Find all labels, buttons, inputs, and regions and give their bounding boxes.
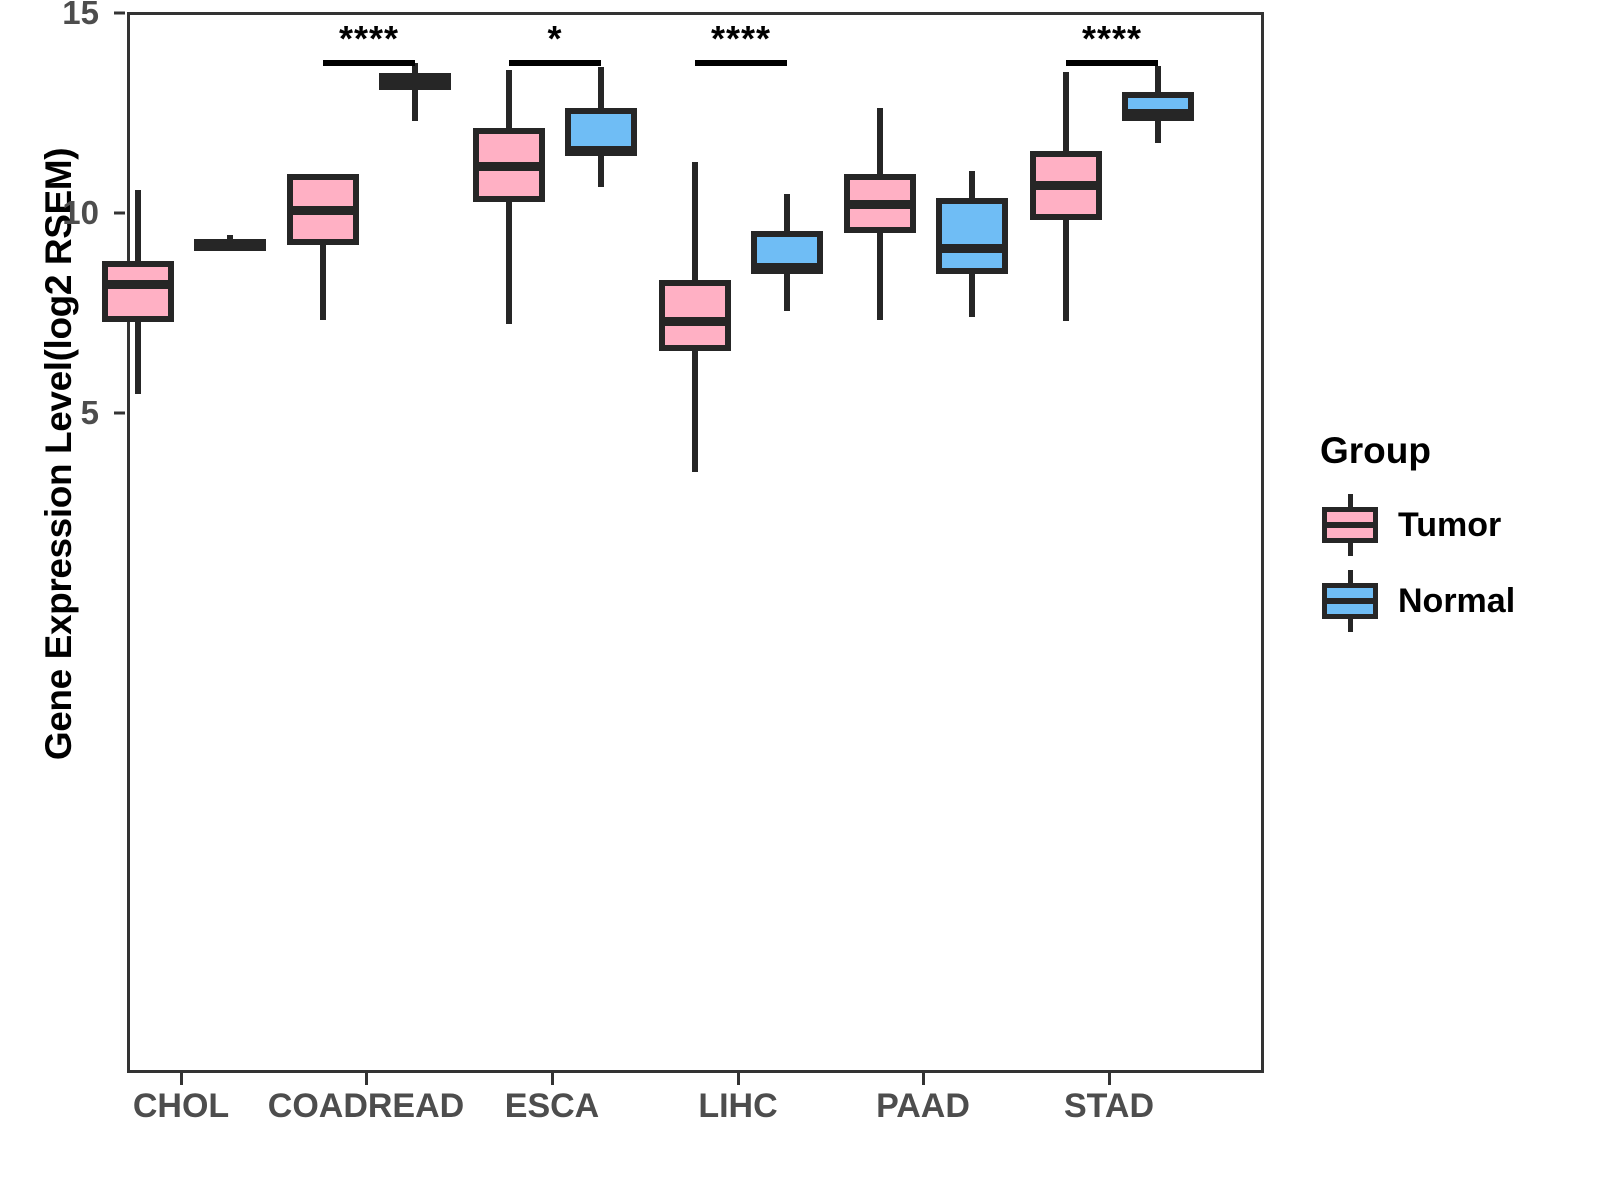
boxplot-esca-tumor-median-line: [473, 162, 545, 171]
significance-label-lihc: ****: [695, 21, 787, 57]
x-tick-mark-chol: [180, 1073, 183, 1085]
y-tick-mark-5: [114, 412, 125, 415]
x-tick-label-stad: STAD: [1064, 1087, 1154, 1126]
boxplot-lihc-tumor-upper-whisker: [692, 162, 698, 280]
boxplot-lihc-normal-median-line: [751, 263, 823, 272]
boxplot-figure: Gene Expression Level(log2 RSEM) 15105 *…: [0, 0, 1600, 1200]
x-tick-mark-esca: [551, 1073, 554, 1085]
significance-bar-stad: [1066, 60, 1158, 66]
boxplot-esca-tumor-lower-whisker: [506, 202, 512, 324]
boxplot-paad-normal-lower-whisker: [969, 274, 975, 317]
legend-key-normal-icon: [1320, 570, 1380, 632]
x-tick-mark-paad: [922, 1073, 925, 1085]
legend-key-median: [1322, 522, 1378, 528]
x-tick-label-coadread: COADREAD: [268, 1087, 464, 1126]
legend-key-lower-whisker: [1348, 619, 1353, 632]
boxplot-coadread-normal-lower-whisker: [412, 90, 418, 121]
boxplot-esca-normal-lower-whisker: [598, 156, 604, 187]
x-tick-mark-coadread: [365, 1073, 368, 1085]
legend-key-upper-whisker: [1348, 494, 1353, 507]
boxplot-lihc-normal-upper-whisker: [784, 194, 790, 231]
boxplot-paad-normal-upper-whisker: [969, 171, 975, 198]
y-axis-title: Gene Expression Level(log2 RSEM): [38, 54, 80, 854]
significance-bar-lihc: [695, 60, 787, 66]
boxplot-paad-tumor-lower-whisker: [877, 233, 883, 320]
legend-items: TumorNormal: [1320, 494, 1515, 632]
legend-key-tumor-icon: [1320, 494, 1380, 556]
legend-key-upper-whisker: [1348, 570, 1353, 583]
significance-label-stad: ****: [1066, 21, 1158, 57]
legend-title: Group: [1320, 430, 1515, 472]
significance-bar-esca: [509, 60, 601, 66]
legend-item-tumor[interactable]: Tumor: [1320, 494, 1515, 556]
boxplot-chol-tumor-upper-whisker: [135, 190, 141, 261]
boxplot-stad-normal-median-line: [1122, 109, 1194, 118]
boxplot-esca-normal-upper-whisker: [598, 67, 604, 108]
boxplot-paad-normal-box[interactable]: [936, 198, 1008, 274]
boxplot-lihc-tumor-median-line: [659, 317, 731, 326]
x-tick-mark-lihc: [737, 1073, 740, 1085]
boxplot-stad-tumor-lower-whisker: [1063, 220, 1069, 321]
boxplot-lihc-tumor-box[interactable]: [659, 280, 731, 351]
legend: Group TumorNormal: [1320, 430, 1515, 646]
plot-area: *************: [130, 15, 1261, 1070]
boxplot-chol-tumor-lower-whisker: [135, 322, 141, 394]
boxplot-stad-normal-upper-whisker: [1155, 66, 1161, 92]
boxplot-coadread-tumor-median-line: [287, 206, 359, 215]
legend-key-lower-whisker: [1348, 543, 1353, 556]
boxplot-esca-tumor-upper-whisker: [506, 70, 512, 128]
y-tick-label-5: 5: [0, 394, 99, 432]
legend-item-normal[interactable]: Normal: [1320, 570, 1515, 632]
legend-label-normal: Normal: [1398, 582, 1515, 621]
x-tick-label-lihc: LIHC: [698, 1087, 777, 1126]
x-tick-label-paad: PAAD: [876, 1087, 970, 1126]
boxplot-stad-tumor-upper-whisker: [1063, 72, 1069, 151]
y-tick-mark-15: [114, 12, 125, 15]
boxplot-esca-normal-median-line: [565, 146, 637, 155]
boxplot-stad-tumor-median-line: [1030, 181, 1102, 190]
legend-key-median: [1322, 598, 1378, 604]
boxplot-lihc-normal-lower-whisker: [784, 274, 790, 311]
boxplot-chol-tumor-box[interactable]: [102, 261, 174, 322]
significance-label-esca: *: [509, 21, 601, 57]
boxplot-paad-tumor-median-line: [844, 200, 916, 209]
x-tick-label-chol: CHOL: [133, 1087, 229, 1126]
boxplot-coadread-tumor-lower-whisker: [320, 245, 326, 320]
plot-panel: *************: [127, 12, 1264, 1073]
boxplot-paad-tumor-upper-whisker: [877, 108, 883, 174]
boxplot-stad-normal-lower-whisker: [1155, 121, 1161, 143]
boxplot-coadread-normal-median-line: [379, 79, 451, 88]
x-tick-label-esca: ESCA: [505, 1087, 599, 1126]
y-tick-mark-10: [114, 212, 125, 215]
boxplot-chol-normal-median-line: [194, 242, 266, 251]
legend-label-tumor: Tumor: [1398, 506, 1501, 545]
y-tick-label-15: 15: [0, 0, 99, 32]
significance-label-coadread: ****: [323, 21, 415, 57]
boxplot-lihc-tumor-lower-whisker: [692, 351, 698, 472]
significance-bar-coadread: [323, 60, 415, 66]
boxplot-paad-normal-median-line: [936, 244, 1008, 253]
y-tick-label-10: 10: [0, 194, 99, 232]
x-tick-mark-stad: [1108, 1073, 1111, 1085]
boxplot-chol-tumor-median-line: [102, 280, 174, 289]
